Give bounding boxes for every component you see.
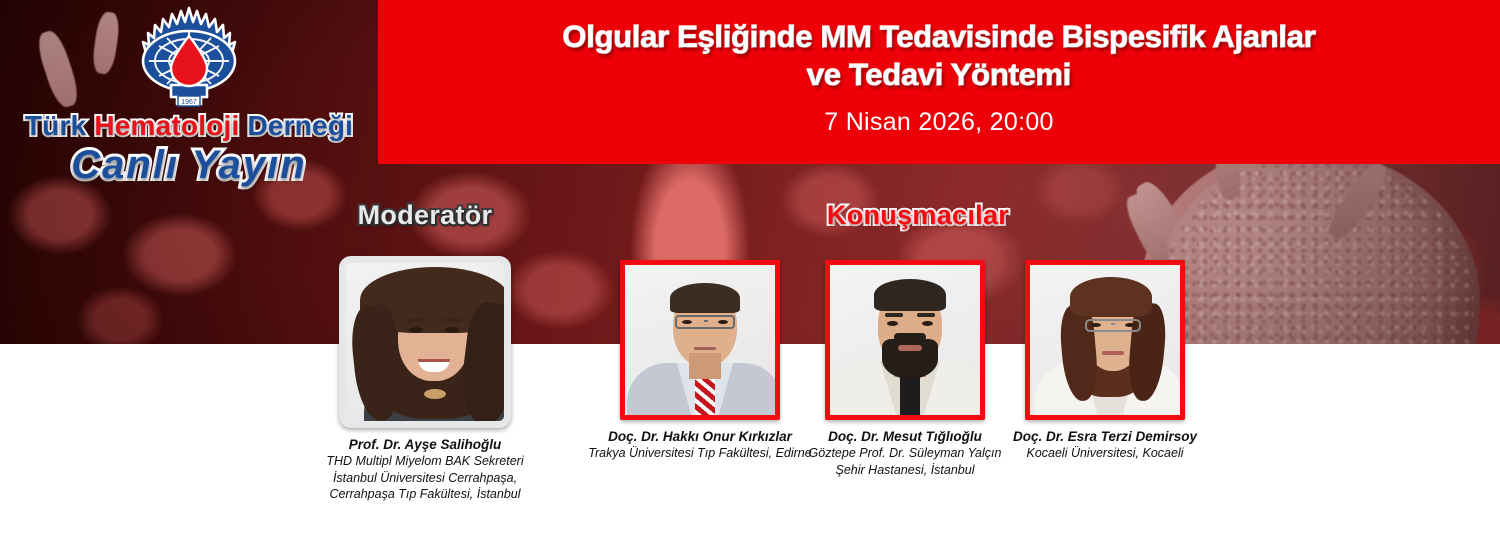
cell-projection-icon: [1323, 158, 1393, 244]
speaker-card: Doç. Dr. Esra Terzi Demirsoy Kocaeli Üni…: [955, 260, 1255, 462]
speaker-photo-frame: [1025, 260, 1185, 420]
org-name-part-1: Türk: [25, 110, 94, 141]
org-name-part-2: Hematoloji: [94, 110, 239, 141]
moderator-portrait: [346, 263, 504, 421]
emblem-year-text: 1967: [181, 99, 197, 106]
event-title: Olgular Eşliğinde MM Tedavisinde Bispesi…: [378, 18, 1500, 94]
speaker-portrait-3: [1030, 265, 1180, 415]
thd-logo-block: 1967 Türk Hematoloji Derneği Canlı Yayın: [14, 4, 364, 182]
organization-name: Türk Hematoloji Derneği: [14, 112, 364, 140]
moderator-photo-frame: [339, 256, 511, 428]
event-date: 7 Nisan 2026, 20:00: [378, 108, 1500, 137]
speaker-affiliation-line-1: Kocaeli Üniversitesi, Kocaeli: [955, 445, 1255, 462]
thd-blood-drop-emblem-icon: 1967: [133, 6, 245, 110]
org-name-part-3: Derneği: [239, 110, 353, 141]
speaker-name: Doç. Dr. Esra Terzi Demirsoy: [955, 429, 1255, 445]
webinar-announcement-banner: 1967 Türk Hematoloji Derneği Canlı Yayın…: [0, 0, 1500, 550]
speakers-section-heading: Konuşmacılar: [814, 200, 1022, 231]
moderator-affiliation-line-2: İstanbul Üniversitesi Cerrahpaşa,: [275, 470, 575, 487]
title-banner: Olgular Eşliğinde MM Tedavisinde Bispesi…: [378, 0, 1500, 164]
moderator-affiliation-line-3: Cerrahpaşa Tıp Fakültesi, İstanbul: [275, 486, 575, 503]
moderator-section-heading: Moderatör: [336, 200, 514, 231]
event-title-line-2: ve Tedavi Yöntemi: [418, 56, 1460, 94]
event-title-line-1: Olgular Eşliğinde MM Tedavisinde Bispesi…: [418, 18, 1460, 56]
live-broadcast-label: Canlı Yayın: [14, 144, 364, 186]
speaker-affiliation-line-2: Şehir Hastanesi, İstanbul: [755, 462, 1055, 479]
speaker-portrait-1: [625, 265, 775, 415]
